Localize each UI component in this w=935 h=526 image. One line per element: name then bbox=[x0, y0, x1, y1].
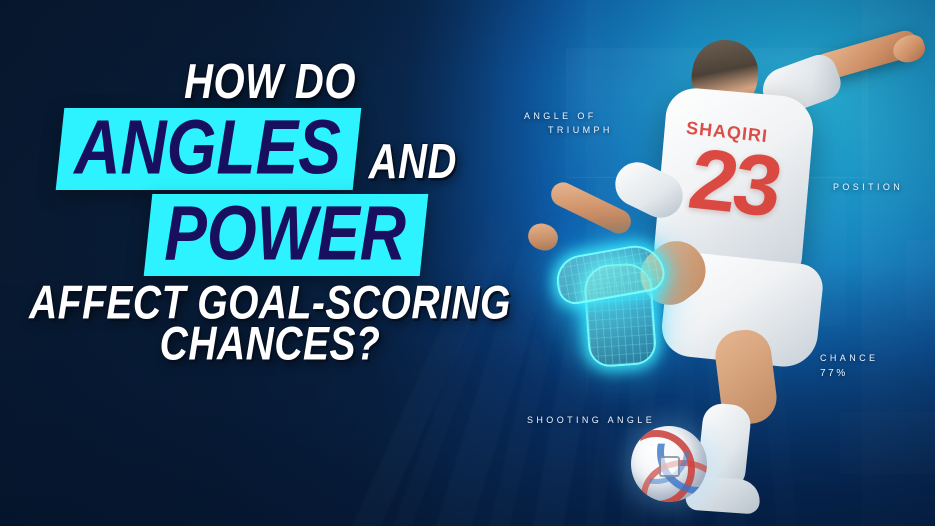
hud-label-angle-of-triumph: ANGLE OF TRIUMPH bbox=[524, 110, 613, 138]
hud-angle-of-triumph-line2: TRIUMPH bbox=[548, 124, 613, 138]
hud-chance-value: 77% bbox=[820, 366, 878, 382]
hud-angle-of-triumph-line1: ANGLE OF bbox=[524, 111, 597, 121]
ball-logo bbox=[659, 456, 680, 477]
title-line-chances: CHANCES? bbox=[0, 325, 540, 364]
title-and-text: AND bbox=[369, 138, 457, 187]
title-angles-highlight: ANGLES bbox=[56, 108, 361, 190]
title-power-text: POWER bbox=[164, 195, 406, 272]
thumbnail-canvas: SHAQIRI 23 ANGLE OF TRIUMPH bbox=[0, 0, 935, 526]
title-line-angles-and: ANGLES AND bbox=[60, 108, 540, 190]
hud-chance-line1: CHANCE bbox=[820, 353, 878, 363]
hud-shooting-angle-line1: SHOOTING ANGLE bbox=[527, 415, 655, 425]
hud-position-line1: POSITION bbox=[833, 182, 903, 192]
title-line-power: POWER bbox=[148, 194, 540, 276]
title-line-how-do: HOW DO bbox=[0, 62, 540, 102]
title-chances-text: CHANCES? bbox=[160, 321, 381, 369]
hud-label-shooting-angle: SHOOTING ANGLE bbox=[527, 414, 655, 428]
match-ball bbox=[631, 426, 707, 502]
title-block: HOW DO ANGLES AND POWER AFFECT GOAL-SCOR… bbox=[0, 62, 540, 364]
title-power-highlight: POWER bbox=[144, 194, 428, 276]
hud-label-chance: CHANCE 77% bbox=[820, 352, 878, 381]
jersey-number: 23 bbox=[684, 136, 785, 230]
hud-label-position: POSITION bbox=[833, 181, 903, 195]
title-angles-text: ANGLES bbox=[74, 109, 341, 186]
title-line-affect: AFFECT GOAL-SCORING bbox=[0, 284, 540, 323]
title-how-do-text: HOW DO bbox=[184, 58, 356, 107]
